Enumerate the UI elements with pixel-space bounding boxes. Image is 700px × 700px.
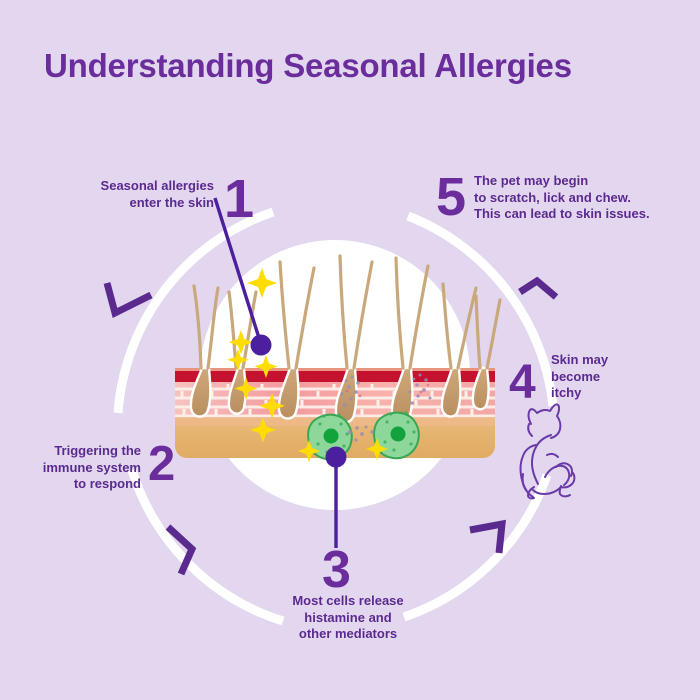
step-2-text: Triggering the immune system to respond [14, 443, 141, 493]
arrowhead-bottomright [470, 524, 502, 553]
step-4-number: 4 [509, 359, 536, 407]
step-4-text: Skin may become itchy [551, 352, 661, 402]
step-5-text: The pet may begin to scratch, lick and c… [474, 173, 689, 223]
step-1-text: Seasonal allergies enter the skin [84, 178, 214, 211]
infographic-canvas: Understanding Seasonal Allergies [0, 0, 700, 700]
arrowhead-left [107, 283, 151, 313]
step-5-number: 5 [436, 170, 466, 224]
step-3-text: Most cells release histamine and other m… [248, 593, 448, 643]
step-1-number: 1 [224, 172, 254, 226]
arrowhead-topright [520, 281, 556, 297]
step-2-number: 2 [148, 440, 175, 489]
step-3-number: 3 [322, 544, 351, 596]
